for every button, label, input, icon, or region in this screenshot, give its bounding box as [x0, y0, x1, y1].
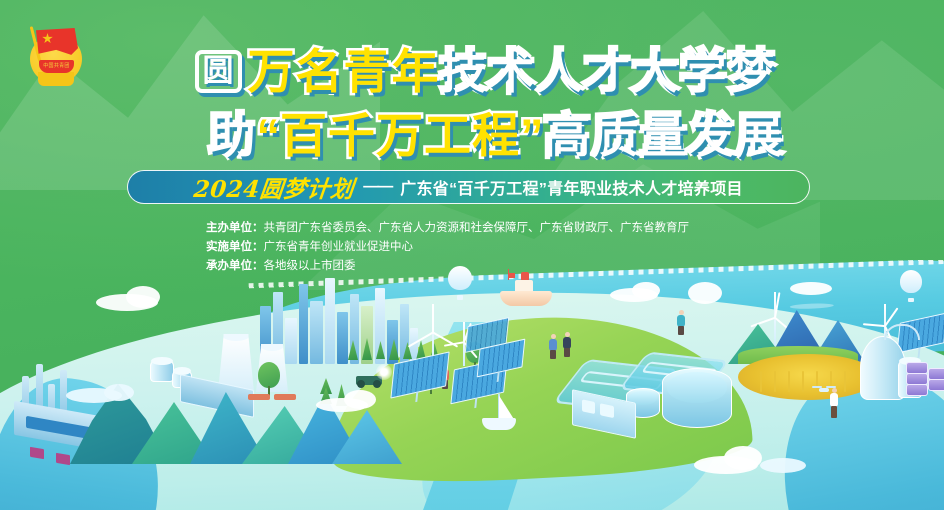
subtitle-banner: 2024圆梦计划 —— 广东省“百千万工程”青年职业技术人才培养项目: [127, 170, 810, 204]
person-legs: [678, 326, 684, 335]
poster-title-block: 圆万名青年技术人才大学梦 助“百千万工程”高质量发展: [0, 44, 944, 159]
pine-tree: [348, 340, 358, 360]
person-operator: [828, 388, 840, 420]
tractor-wheel: [373, 380, 381, 388]
pine-tier: [348, 340, 358, 360]
title-line2-yellow: 百千万工程: [280, 112, 520, 159]
organizer-label: 主办单位：: [206, 222, 264, 234]
wheat-stalk: [844, 371, 846, 392]
warehouse-window: [582, 400, 596, 414]
tree-canopy: [258, 362, 280, 388]
pine-tier: [376, 341, 385, 359]
balloon-basket: [908, 298, 914, 302]
person-legs: [831, 406, 837, 418]
wave-line: [790, 303, 834, 310]
wheat-stalk: [788, 371, 790, 392]
title-boxed-char: 圆: [195, 50, 242, 93]
balloon-envelope: [900, 270, 922, 293]
ship-flag: [508, 273, 514, 278]
title-line1-white: 技术人才大学梦: [440, 48, 776, 95]
cloud: [790, 282, 832, 295]
poster-root: 中国共青团 圆万名青年技术人才大学梦 助“百千万工程”高质量发展 2024圆梦计…: [0, 0, 944, 510]
sailboat-sail: [499, 395, 514, 419]
planter-box: [248, 394, 270, 400]
hot-air-balloon: [900, 270, 922, 302]
cloud: [104, 384, 134, 401]
turbine-blade: [432, 304, 434, 333]
tree: [258, 362, 280, 396]
pine-tree: [376, 341, 385, 359]
person-legs: [550, 350, 556, 359]
banner-program-name: 广东省“百千万工程”青年职业技术人才培养项目: [400, 175, 743, 199]
building: [325, 278, 335, 364]
barrel: [928, 379, 944, 391]
tractor-wheel: [357, 380, 365, 388]
sailboat-hull: [482, 418, 516, 430]
clarifier-tank: [662, 368, 732, 428]
organizer-label: 实施单位：: [206, 241, 264, 253]
hot-air-balloon: [448, 266, 472, 300]
pine-tier: [362, 338, 372, 360]
cloud: [760, 458, 806, 473]
wheat-stalk: [760, 371, 762, 392]
organizer-value: 广东省青年创业就业促进中心: [264, 241, 414, 253]
wheat-stalk: [802, 371, 804, 392]
person-legs: [564, 348, 570, 357]
cloud: [344, 390, 376, 409]
organizer-value: 共青团广东省委员会、广东省人力资源和社会保障厅、广东省财政厅、广东省教育厅: [264, 222, 690, 234]
cloud: [688, 282, 722, 304]
person: [562, 332, 572, 360]
organizer-row: 主办单位：共青团广东省委员会、广东省人力资源和社会保障厅、广东省财政厅、广东省教…: [206, 219, 689, 238]
pine-tier: [389, 339, 399, 360]
crop-spray-effect: [376, 364, 392, 380]
wheat-field: [738, 354, 878, 400]
title-quote-close: ”: [520, 112, 544, 159]
cloud: [126, 286, 160, 308]
person: [676, 310, 686, 338]
title-line2-prefix: 助: [209, 112, 257, 159]
title-quote-open: “: [257, 112, 281, 159]
ship-hull: [500, 291, 552, 306]
pine-tree: [362, 338, 372, 360]
banner-program-year: 2024圆梦计划: [192, 170, 356, 204]
sailboat: [482, 394, 516, 430]
barrel: [906, 384, 928, 396]
pine-tree: [389, 339, 399, 360]
planter-box: [274, 394, 296, 400]
warehouse-window: [600, 404, 614, 418]
wheat-stalk: [774, 371, 776, 392]
title-line-1: 圆万名青年技术人才大学梦: [26, 44, 944, 95]
person-body: [830, 393, 838, 407]
balloon-basket: [457, 295, 464, 300]
person: [548, 334, 558, 360]
landscape-illustration: [0, 260, 944, 510]
cloud: [632, 282, 660, 299]
organizer-row: 实施单位：广东省青年创业就业促进中心: [206, 238, 689, 257]
title-line2-suffix: 高质量发展: [544, 112, 784, 159]
cloud: [724, 446, 762, 470]
cargo-ship: [500, 274, 552, 306]
title-line1-yellow: 万名青年: [248, 48, 440, 95]
title-line-2: 助“百千万工程”高质量发展: [48, 108, 944, 159]
balloon-envelope: [448, 266, 472, 290]
banner-dash: ——: [363, 178, 391, 196]
